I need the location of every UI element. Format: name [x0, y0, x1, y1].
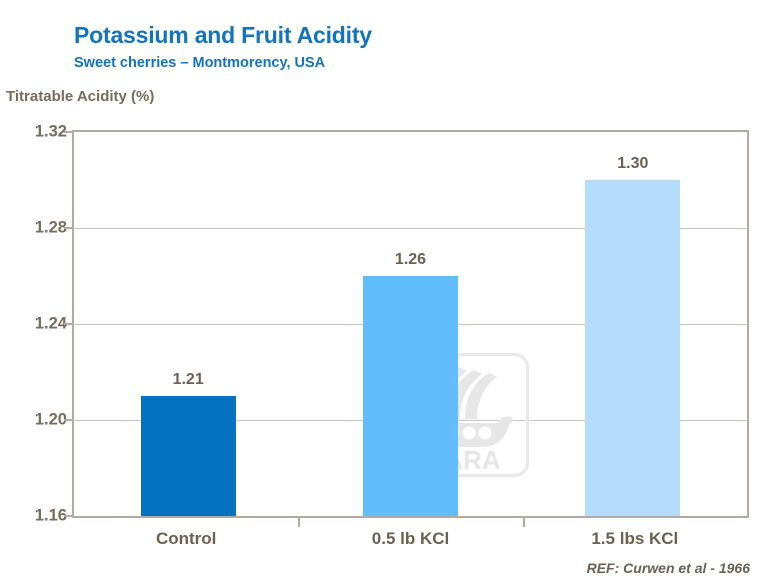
- bar[interactable]: [363, 276, 458, 516]
- bar[interactable]: [141, 396, 236, 516]
- x-tick-mark: [523, 518, 525, 527]
- y-tick-label: 1.28: [7, 219, 67, 238]
- plot-area: YARA 1.211.261.30: [72, 130, 749, 518]
- y-tick-mark: [64, 515, 72, 517]
- y-tick-label: 1.20: [7, 411, 67, 430]
- x-axis-ticks: [72, 518, 749, 527]
- chart-subtitle: Sweet cherries – Montmorency, USA: [74, 55, 325, 71]
- y-tick-label: 1.24: [7, 315, 67, 334]
- reference-note: REF: Curwen et al - 1966: [587, 560, 750, 576]
- y-tick-label: 1.32: [7, 123, 67, 142]
- x-tick-label: 1.5 lbs KCl: [591, 529, 678, 549]
- bar[interactable]: [585, 180, 680, 516]
- y-axis-title: Titratable Acidity (%): [6, 88, 154, 105]
- y-tick-mark: [64, 419, 72, 421]
- x-tick-label: 0.5 lb KCl: [372, 529, 449, 549]
- y-tick-mark: [64, 131, 72, 133]
- bar-value-label: 1.30: [617, 155, 648, 173]
- y-tick-label: 1.16: [7, 507, 67, 526]
- bar-value-label: 1.21: [173, 371, 204, 389]
- y-tick-mark: [64, 323, 72, 325]
- y-tick-mark: [64, 227, 72, 229]
- plot-inner: YARA 1.211.261.30: [74, 132, 747, 516]
- x-tick-mark: [298, 518, 300, 527]
- bar-value-label: 1.26: [395, 251, 426, 269]
- chart-title: Potassium and Fruit Acidity: [74, 22, 372, 49]
- x-tick-label: Control: [156, 529, 216, 549]
